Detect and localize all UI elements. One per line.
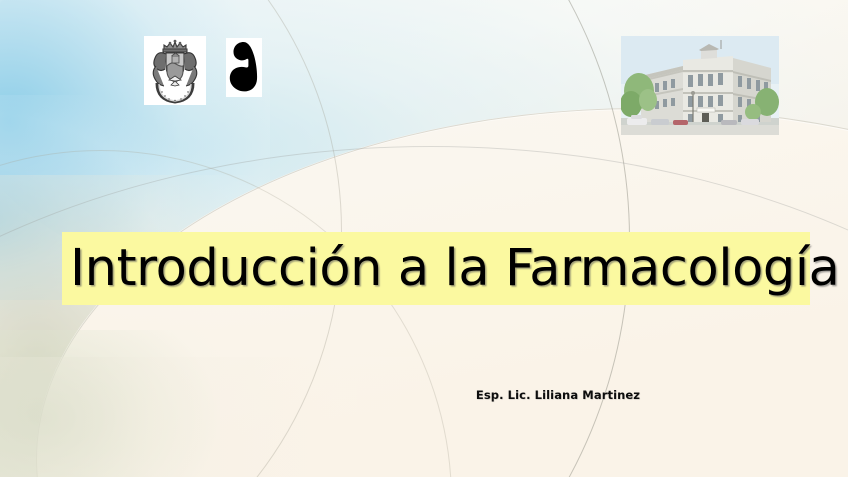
presentation-slide: Introducción a la Farmacología Esp. Lic.… [0, 0, 848, 477]
university-crest-logo [144, 36, 206, 105]
university-building-photo [621, 36, 779, 135]
kidney-silhouette-logo [226, 38, 262, 97]
slide-title-highlight: Introducción a la Farmacología [62, 232, 810, 305]
page-title: Introducción a la Farmacología [70, 243, 840, 294]
slide-author-subtitle: Esp. Lic. Liliana Martinez [430, 388, 686, 402]
